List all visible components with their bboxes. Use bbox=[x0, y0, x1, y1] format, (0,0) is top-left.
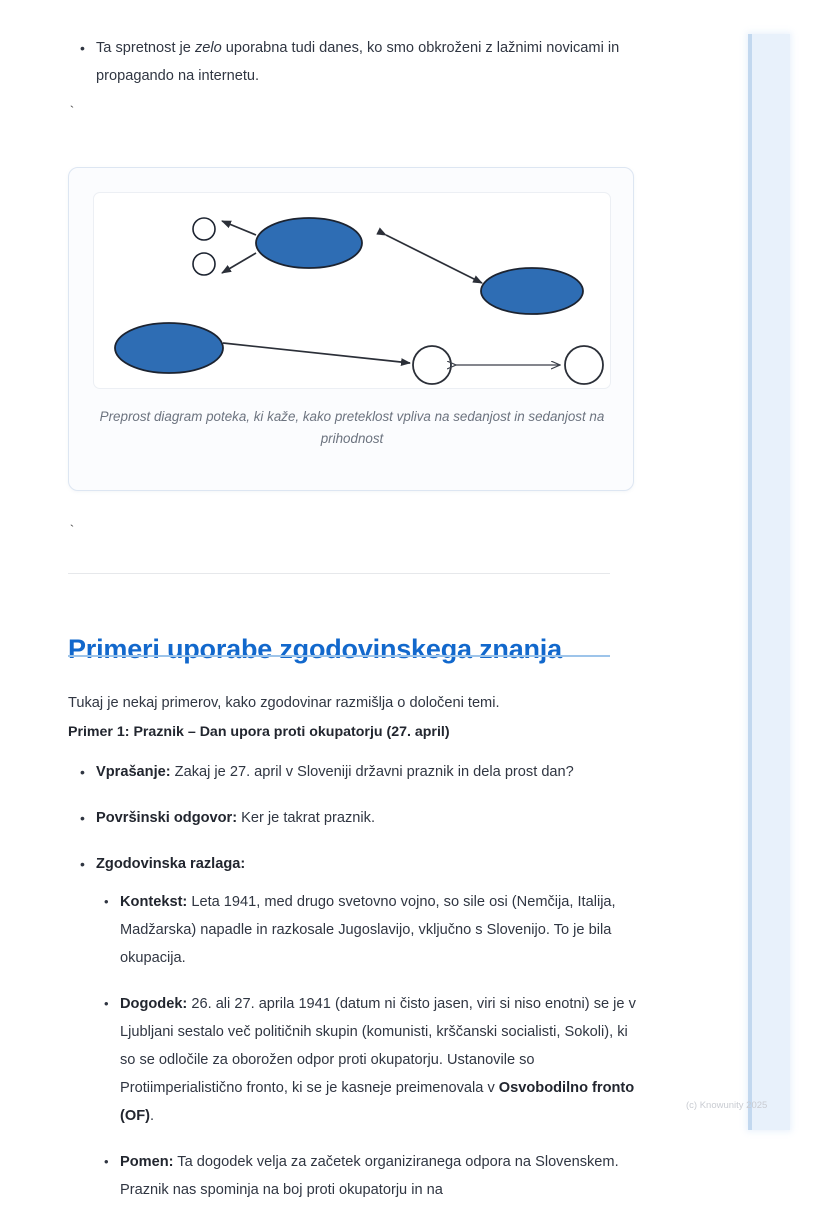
example-title: Primer 1: Praznik – Dan upora proti okup… bbox=[68, 721, 634, 743]
list-item: Zgodovinska razlaga: Kontekst: Leta 1941… bbox=[68, 850, 640, 1204]
diagram-node-circle-a bbox=[193, 218, 215, 240]
section-intro-paragraph: Tukaj je nekaj primerov, kako zgodovinar… bbox=[68, 691, 634, 715]
diagram-edge-1 bbox=[222, 221, 256, 235]
event-text-part2: . bbox=[150, 1108, 154, 1124]
diagram-edge-3 bbox=[386, 235, 482, 283]
right-side-rail[interactable] bbox=[748, 34, 790, 1130]
explanation-sub-list: Kontekst: Leta 1941, med drugo svetovno … bbox=[96, 888, 640, 1204]
diagram-edge-4 bbox=[223, 343, 410, 363]
figure-caption: Preprost diagram poteka, ki kaže, kako p… bbox=[99, 406, 605, 450]
list-item: Ta spretnost je zelo uporabna tudi danes… bbox=[68, 34, 634, 90]
example-bullet-list: Vprašanje: Zakaj je 27. april v Slovenij… bbox=[68, 758, 640, 1204]
surface-answer-text: Ker je takrat praznik. bbox=[237, 810, 375, 826]
diagram-node-circle-b bbox=[193, 253, 215, 275]
heading-underline-rule bbox=[68, 655, 610, 657]
document-page: Ta spretnost je zelo uporabna tudi danes… bbox=[0, 0, 712, 1171]
context-text: Leta 1941, med drugo svetovno vojno, so … bbox=[120, 894, 616, 966]
question-label: Vprašanje: bbox=[96, 764, 171, 780]
diagram-node-circle-c bbox=[413, 346, 451, 384]
intro-text-before: Ta spretnost je bbox=[96, 40, 195, 56]
list-item: Dogodek: 26. ali 27. aprila 1941 (datum … bbox=[96, 990, 640, 1130]
intro-bullet-list: Ta spretnost je zelo uporabna tudi danes… bbox=[68, 34, 634, 90]
watermark-copyright: (c) Knowunity 2025 bbox=[686, 1100, 767, 1112]
list-item: Pomen: Ta dogodek velja za začetek organ… bbox=[96, 1148, 640, 1204]
question-text: Zakaj je 27. april v Sloveniji državni p… bbox=[171, 764, 574, 780]
diagram-node-ellipse-present bbox=[256, 218, 362, 268]
surface-answer-label: Površinski odgovor: bbox=[96, 810, 237, 826]
list-item: Površinski odgovor: Ker je takrat prazni… bbox=[68, 804, 640, 832]
flow-diagram-svg bbox=[94, 193, 611, 389]
context-label: Kontekst: bbox=[120, 894, 187, 910]
page-title: Primeri uporabe zgodovinskega znanja bbox=[68, 632, 634, 666]
event-label: Dogodek: bbox=[120, 996, 187, 1012]
section-divider bbox=[68, 573, 610, 574]
historical-explanation-label: Zgodovinska razlaga: bbox=[96, 856, 245, 872]
meaning-text: Ta dogodek velja za začetek organizirane… bbox=[120, 1154, 619, 1198]
list-item: Kontekst: Leta 1941, med drugo svetovno … bbox=[96, 888, 640, 972]
list-item: Vprašanje: Zakaj je 27. april v Slovenij… bbox=[68, 758, 640, 786]
intro-bullet-section: Ta spretnost je zelo uporabna tudi danes… bbox=[68, 34, 634, 108]
side-rail-accent-bar bbox=[748, 34, 752, 1130]
diagram-edge-2 bbox=[222, 253, 256, 273]
diagram-node-circle-d bbox=[565, 346, 603, 384]
example-bullet-block: Vprašanje: Zakaj je 27. april v Slovenij… bbox=[68, 758, 640, 1222]
figure-card: Preprost diagram poteka, ki kaže, kako p… bbox=[68, 167, 634, 491]
intro-text-italic: zelo bbox=[195, 40, 222, 56]
backtick-marker-middle: ` bbox=[68, 524, 76, 538]
diagram-node-ellipse-past bbox=[115, 323, 223, 373]
figure-canvas bbox=[93, 192, 611, 389]
backtick-marker-top: ` bbox=[68, 105, 76, 119]
meaning-label: Pomen: bbox=[120, 1154, 174, 1170]
diagram-node-ellipse-future bbox=[481, 268, 583, 314]
